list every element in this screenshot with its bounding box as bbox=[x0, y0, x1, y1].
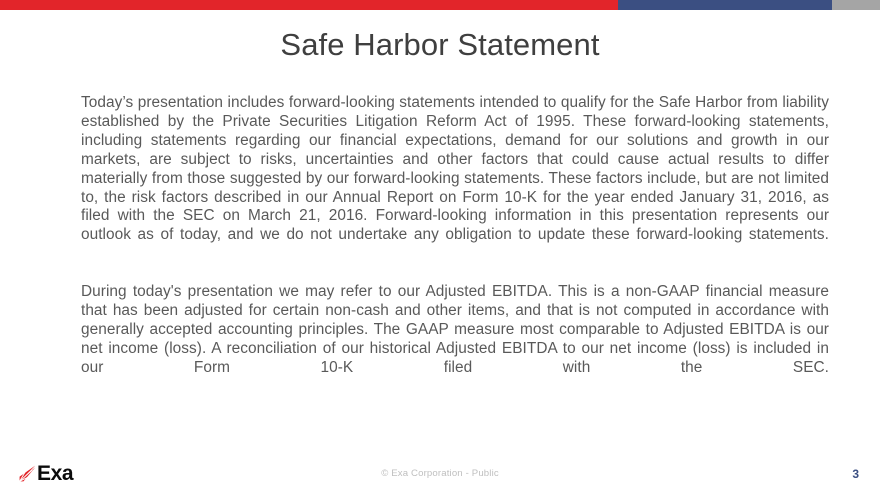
top-accent-bar bbox=[0, 0, 880, 10]
page-number: 3 bbox=[852, 467, 859, 481]
slide-body: Today’s presentation includes forward-lo… bbox=[81, 94, 829, 396]
top-accent-segment-blue bbox=[618, 0, 832, 10]
slide-title: Safe Harbor Statement bbox=[0, 24, 880, 66]
body-paragraph: Today’s presentation includes forward-lo… bbox=[81, 94, 829, 264]
top-accent-segment-gray bbox=[832, 0, 880, 10]
slide: Safe Harbor Statement Today’s presentati… bbox=[0, 0, 880, 495]
body-paragraph: During today's presentation we may refer… bbox=[81, 283, 829, 396]
top-accent-segment-red bbox=[0, 0, 618, 10]
footer-copyright: © Exa Corporation - Public bbox=[0, 468, 880, 479]
